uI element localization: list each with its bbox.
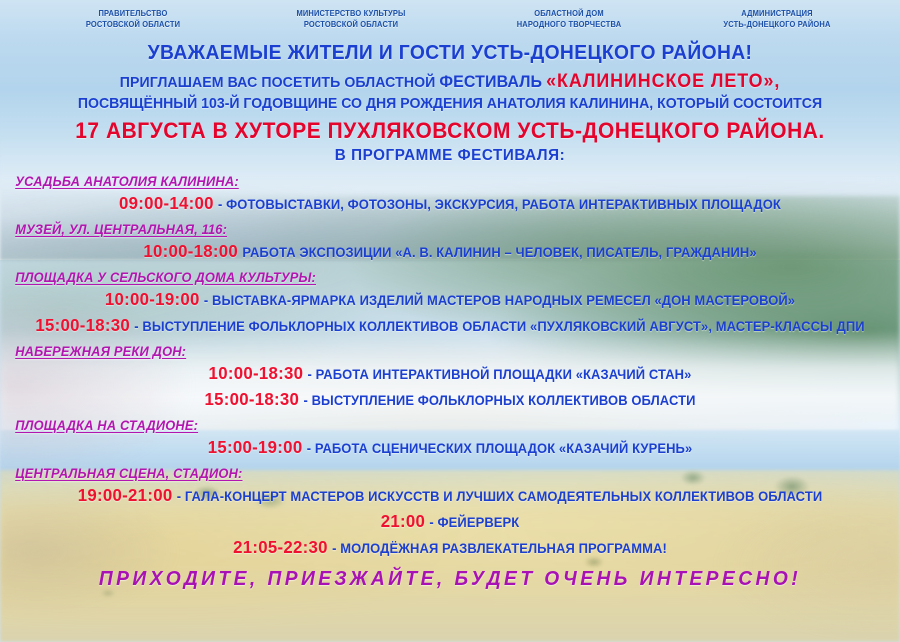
event-description: - РАБОТА ИНТЕРАКТИВНОЙ ПЛОЩАДКИ «КАЗАЧИЙ… (308, 367, 692, 382)
festival-poster: ПРАВИТЕЛЬСТВО РОСТОВСКОЙ ОБЛАСТИ МИНИСТЕ… (0, 0, 900, 642)
organizer-ministry: МИНИСТЕРСТВО КУЛЬТУРЫ РОСТОВСКОЙ ОБЛАСТИ (259, 8, 444, 30)
event-row: 15:00-18:30 - ВЫСТУПЛЕНИЕ ФОЛЬКЛОРНЫХ КО… (18, 314, 882, 338)
event-time: 21:00 (381, 511, 425, 531)
invitation-line: ПРИГЛАШАЕМ ВАС ПОСЕТИТЬ ОБЛАСТНОЙ ФЕСТИВ… (27, 72, 873, 92)
event-description: - ВЫСТУПЛЕНИЕ ФОЛЬКЛОРНЫХ КОЛЛЕКТИВОВ ОБ… (134, 319, 864, 334)
event-row: 15:00-18:30 - ВЫСТУПЛЕНИЕ ФОЛЬКЛОРНЫХ КО… (18, 388, 882, 412)
poster-content: ПРАВИТЕЛЬСТВО РОСТОВСКОЙ ОБЛАСТИ МИНИСТЕ… (0, 0, 900, 642)
event-description: - ФЕЙЕРВЕРК (429, 515, 519, 530)
event-time: 09:00-14:00 (119, 193, 214, 213)
organizer-credits: ПРАВИТЕЛЬСТВО РОСТОВСКОЙ ОБЛАСТИ МИНИСТЕ… (0, 0, 900, 30)
organizer-folk-house-line2: НАРОДНОГО ТВОРЧЕСТВА (485, 19, 652, 30)
event-time: 10:00-18:30 (209, 363, 304, 383)
event-row: 09:00-14:00 - ФОТОВЫСТАВКИ, ФОТОЗОНЫ, ЭК… (18, 192, 882, 216)
program-list: УСАДЬБА АНАТОЛИЯ КАЛИНИНА: 09:00-14:00 -… (0, 173, 900, 560)
organizer-ministry-line1: МИНИСТЕРСТВО КУЛЬТУРЫ (259, 8, 444, 19)
organizer-folk-house-line1: ОБЛАСТНОЙ ДОМ (485, 8, 652, 19)
closing-tagline: ПРИХОДИТЕ, ПРИЕЗЖАЙТЕ, БУДЕТ ОЧЕНЬ ИНТЕР… (18, 567, 882, 591)
venue-header-museum: МУЗЕЙ, УЛ. ЦЕНТРАЛЬНАЯ, 116: (0, 221, 855, 238)
event-row: 21:05-22:30 - МОЛОДЁЖНАЯ РАЗВЛЕКАТЕЛЬНАЯ… (18, 536, 882, 560)
dedication-line: ПОСВЯЩЁННЫЙ 103-Й ГОДОВЩИНЕ СО ДНЯ РОЖДЕ… (27, 94, 873, 113)
event-description: - ВЫСТУПЛЕНИЕ ФОЛЬКЛОРНЫХ КОЛЛЕКТИВОВ ОБ… (303, 393, 695, 408)
event-description: - МОЛОДЁЖНАЯ РАЗВЛЕКАТЕЛЬНАЯ ПРОГРАММА! (332, 541, 667, 556)
organizer-ministry-line2: РОСТОВСКОЙ ОБЛАСТИ (259, 19, 444, 30)
event-description: РАБОТА ЭКСПОЗИЦИИ «А. В. КАЛИНИН – ЧЕЛОВ… (242, 245, 756, 260)
event-row: 21:00 - ФЕЙЕРВЕРК (18, 510, 882, 534)
organizer-administration-line2: УСТЬ-ДОНЕЦКОГО РАЙОНА (693, 19, 860, 30)
venue-header-stadium-ground: ПЛОЩАДКА НА СТАДИОНЕ: (0, 417, 855, 434)
venue-header-embankment: НАБЕРЕЖНАЯ РЕКИ ДОН: (0, 343, 855, 360)
event-row: 10:00-19:00 - ВЫСТАВКА-ЯРМАРКА ИЗДЕЛИЙ М… (18, 288, 882, 312)
venue-header-central-stage: ЦЕНТРАЛЬНАЯ СЦЕНА, СТАДИОН: (0, 465, 855, 482)
date-and-place: 17 АВГУСТА В ХУТОРЕ ПУХЛЯКОВСКОМ УСТЬ-ДО… (23, 118, 878, 144)
venue-header-culture-house: ПЛОЩАДКА У СЕЛЬСКОГО ДОМА КУЛЬТУРЫ: (0, 269, 855, 286)
organizer-administration: АДМИНИСТРАЦИЯ УСТЬ-ДОНЕЦКОГО РАЙОНА (693, 8, 860, 30)
event-row: 10:00-18:30 - РАБОТА ИНТЕРАКТИВНОЙ ПЛОЩА… (18, 362, 882, 386)
headline-block: УВАЖАЕМЫЕ ЖИТЕЛИ И ГОСТИ УСТЬ-ДОНЕЦКОГО … (0, 41, 900, 166)
festival-word: ФЕСТИВАЛЬ (439, 72, 542, 91)
invitation-prefix: ПРИГЛАШАЕМ ВАС ПОСЕТИТЬ ОБЛАСТНОЙ (120, 74, 436, 91)
event-time: 21:05-22:30 (233, 537, 328, 557)
festival-name: «КАЛИНИНСКОЕ ЛЕТО», (546, 71, 780, 92)
event-time: 10:00-19:00 (105, 289, 200, 309)
venue-header-estate: УСАДЬБА АНАТОЛИЯ КАЛИНИНА: (0, 173, 855, 190)
event-description: - ВЫСТАВКА-ЯРМАРКА ИЗДЕЛИЙ МАСТЕРОВ НАРО… (204, 293, 795, 308)
organizer-government: ПРАВИТЕЛЬСТВО РОСТОВСКОЙ ОБЛАСТИ (49, 8, 216, 30)
event-time: 19:00-21:00 (78, 485, 173, 505)
organizer-folk-house: ОБЛАСТНОЙ ДОМ НАРОДНОГО ТВОРЧЕСТВА (485, 8, 652, 30)
event-description: - ФОТОВЫСТАВКИ, ФОТОЗОНЫ, ЭКСКУРСИЯ, РАБ… (218, 197, 781, 212)
event-description: - ГАЛА-КОНЦЕРТ МАСТЕРОВ ИСКУССТВ И ЛУЧШИ… (177, 489, 822, 504)
event-time: 10:00-18:00 (143, 241, 238, 261)
event-row: 19:00-21:00 - ГАЛА-КОНЦЕРТ МАСТЕРОВ ИСКУ… (18, 484, 882, 508)
event-time: 15:00-19:00 (208, 437, 303, 457)
greeting-title: УВАЖАЕМЫЕ ЖИТЕЛИ И ГОСТИ УСТЬ-ДОНЕЦКОГО … (27, 41, 873, 65)
organizer-government-line1: ПРАВИТЕЛЬСТВО (49, 8, 216, 19)
event-row: 15:00-19:00 - РАБОТА СЦЕНИЧЕСКИХ ПЛОЩАДО… (18, 436, 882, 460)
organizer-government-line2: РОСТОВСКОЙ ОБЛАСТИ (49, 19, 216, 30)
event-time: 15:00-18:30 (35, 315, 130, 335)
event-time: 15:00-18:30 (204, 389, 299, 409)
organizer-administration-line1: АДМИНИСТРАЦИЯ (693, 8, 860, 19)
event-description: - РАБОТА СЦЕНИЧЕСКИХ ПЛОЩАДОК «КАЗАЧИЙ К… (307, 441, 693, 456)
program-label: В ПРОГРАММЕ ФЕСТИВАЛЯ: (23, 146, 878, 166)
event-row: 10:00-18:00 РАБОТА ЭКСПОЗИЦИИ «А. В. КАЛ… (18, 240, 882, 264)
